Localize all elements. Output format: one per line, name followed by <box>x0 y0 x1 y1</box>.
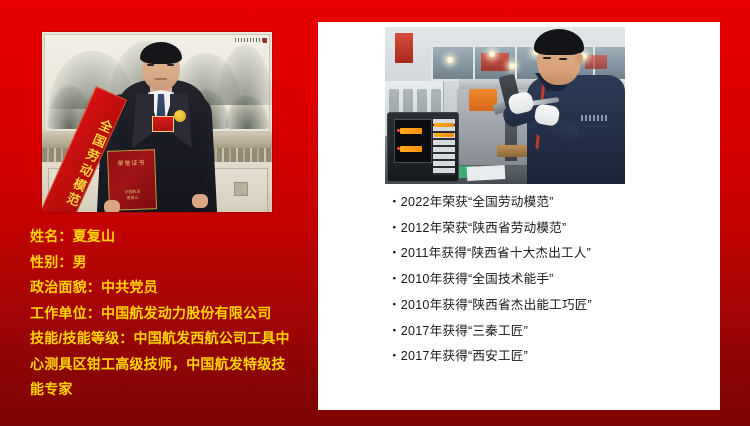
bullet-icon: ・ <box>388 246 401 260</box>
workshop-lamp <box>489 51 495 57</box>
bio-line-skill-3: 能专家 <box>30 377 308 403</box>
award-item-label: 2017年获得“三秦工匠” <box>401 324 528 338</box>
worker-brow <box>543 51 552 53</box>
cnc-screen <box>394 119 432 163</box>
award-item: ・2017年获得“三秦工匠” <box>388 319 712 345</box>
portrait-hand-right <box>192 194 208 208</box>
bench-paper <box>467 165 506 181</box>
cnc-function-keys <box>434 123 454 127</box>
workshop-red-panel <box>481 53 509 71</box>
bullet-icon: ・ <box>388 298 401 312</box>
portrait-mouth <box>155 78 167 80</box>
portrait-lapel-badge <box>174 110 186 122</box>
cnc-function-keys <box>434 133 454 137</box>
work-photo <box>385 27 625 184</box>
painting-seal <box>263 38 267 43</box>
worker-brow <box>559 52 568 54</box>
workshop-lamp <box>447 57 453 63</box>
bio-line-skill-1: 技能/技能等级：中国航发西航公司工具中 <box>30 326 308 352</box>
slide-root: 全国劳动模范 荣誉证书 中国航发夏复山 姓名：夏复山 性别：男 政治面貌：中共党… <box>0 0 750 426</box>
workshop-red-panel <box>395 33 413 63</box>
award-item-label: 2010年获得“陕西省杰出能工巧匠” <box>401 298 592 312</box>
award-item-label: 2022年荣获“全国劳动模范” <box>401 195 554 209</box>
portrait-hand-left <box>104 200 120 212</box>
award-item: ・2011年获得“陕西省十大杰出工人” <box>388 241 712 267</box>
workshop-lamp <box>509 63 515 69</box>
worker-ear <box>575 53 583 64</box>
award-item-label: 2012年荣获“陕西省劳动模范” <box>401 221 567 235</box>
honor-certificate-title: 荣誉证书 <box>108 157 154 168</box>
bio-line-skill-2: 心测具区钳工高级技师，中国航发特级技 <box>30 352 308 378</box>
award-item-label: 2017年获得“西安工匠” <box>401 349 528 363</box>
award-item-label: 2011年获得“陕西省十大杰出工人” <box>401 246 591 260</box>
award-item: ・2010年获得“全国技术能手” <box>388 267 712 293</box>
workshop-red-panel <box>585 55 607 69</box>
portrait-eye <box>167 64 174 66</box>
cnc-readout-digits <box>400 128 422 134</box>
left-column: 全国劳动模范 荣誉证书 中国航发夏复山 姓名：夏复山 性别：男 政治面貌：中共党… <box>0 0 318 426</box>
award-item-label: 2010年获得“全国技术能手” <box>401 272 554 286</box>
award-item: ・2010年获得“陕西省杰出能工巧匠” <box>388 293 712 319</box>
portrait-eye <box>147 64 154 66</box>
bullet-icon: ・ <box>388 324 401 338</box>
cnc-readout-digits <box>400 146 422 152</box>
portrait-photo: 全国劳动模范 荣誉证书 中国航发夏复山 <box>42 32 272 212</box>
bio-line-name: 姓名：夏复山 <box>30 224 308 250</box>
uniform-logo <box>581 115 607 121</box>
bio-line-employer: 工作单位：中国航发动力股份有限公司 <box>30 301 308 327</box>
bullet-icon: ・ <box>388 349 401 363</box>
worker-eye <box>543 57 551 59</box>
bullet-icon: ・ <box>388 195 401 209</box>
worker-eye <box>559 58 567 60</box>
bio-text-block: 姓名：夏复山 性别：男 政治面貌：中共党员 工作单位：中国航发动力股份有限公司 … <box>30 224 308 403</box>
cnc-indicator-led <box>397 147 400 150</box>
bullet-icon: ・ <box>388 221 401 235</box>
award-item: ・2012年荣获“陕西省劳动模范” <box>388 216 712 242</box>
cnc-indicator-led <box>397 129 400 132</box>
bullet-icon: ・ <box>388 272 401 286</box>
portrait-id-card <box>152 116 174 132</box>
cnc-monitor <box>387 112 459 182</box>
painting-inscription <box>235 38 265 42</box>
award-item: ・2017年获得“西安工匠” <box>388 344 712 370</box>
award-item: ・2022年荣获“全国劳动模范” <box>388 190 712 216</box>
award-list: ・2022年荣获“全国劳动模范” ・2012年荣获“陕西省劳动模范” ・2011… <box>388 190 712 370</box>
workshop-window <box>431 45 475 81</box>
bio-line-gender: 性别：男 <box>30 250 308 276</box>
bio-line-political: 政治面貌：中共党员 <box>30 275 308 301</box>
wall-inset <box>234 182 248 196</box>
cnc-keypad <box>433 119 455 175</box>
right-white-panel: ・2022年荣获“全国劳动模范” ・2012年荣获“陕西省劳动模范” ・2011… <box>318 22 720 410</box>
